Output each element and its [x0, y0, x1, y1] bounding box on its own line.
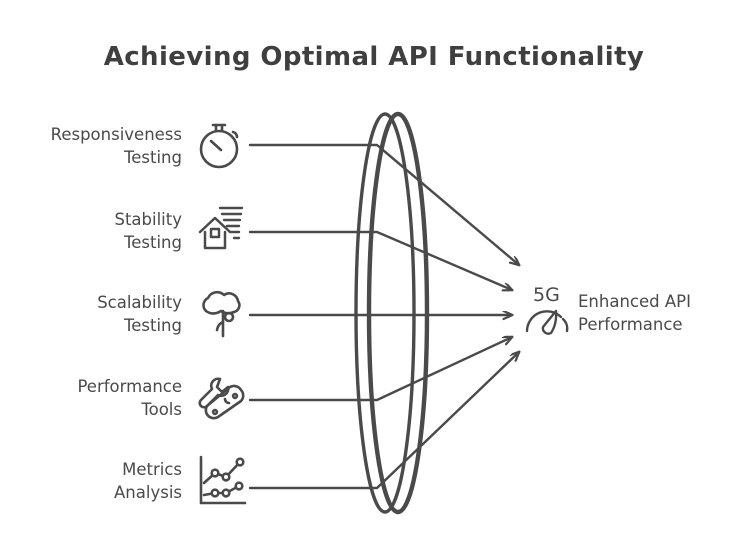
- page-title: Achieving Optimal API Functionality: [0, 42, 748, 72]
- wrench-multitool-icon: [197, 373, 249, 425]
- stopwatch-icon: [195, 117, 247, 173]
- cloud-tree-icon: [196, 288, 248, 342]
- input-label-performance-tools: Performance Tools: [2, 375, 182, 421]
- flow-arrows: [250, 145, 519, 488]
- line-chart-icon: [195, 453, 249, 509]
- house-signal-icon: [196, 203, 250, 257]
- input-label-responsiveness-testing: Responsiveness Testing: [2, 123, 182, 169]
- badge-5g-text: 5G: [533, 284, 560, 306]
- lens-back-ellipse: [369, 114, 427, 512]
- input-label-metrics-analysis: Metrics Analysis: [2, 458, 182, 504]
- lens-disc: [356, 114, 427, 512]
- arrow-metrics-analysis: [250, 352, 519, 488]
- output-label-enhanced-api-performance: Enhanced API Performance: [578, 290, 691, 336]
- diagram-canvas: Achieving Optimal API Functionality Resp…: [0, 0, 748, 556]
- input-label-stability-testing: Stability Testing: [2, 208, 182, 254]
- arrow-responsiveness-testing: [250, 145, 519, 265]
- lens-front-ellipse: [356, 114, 414, 512]
- arrow-stability-testing: [250, 232, 512, 290]
- arrow-performance-tools: [250, 337, 512, 400]
- speed-gauge-icon: 5G: [525, 281, 573, 337]
- input-label-scalability-testing: Scalability Testing: [2, 291, 182, 337]
